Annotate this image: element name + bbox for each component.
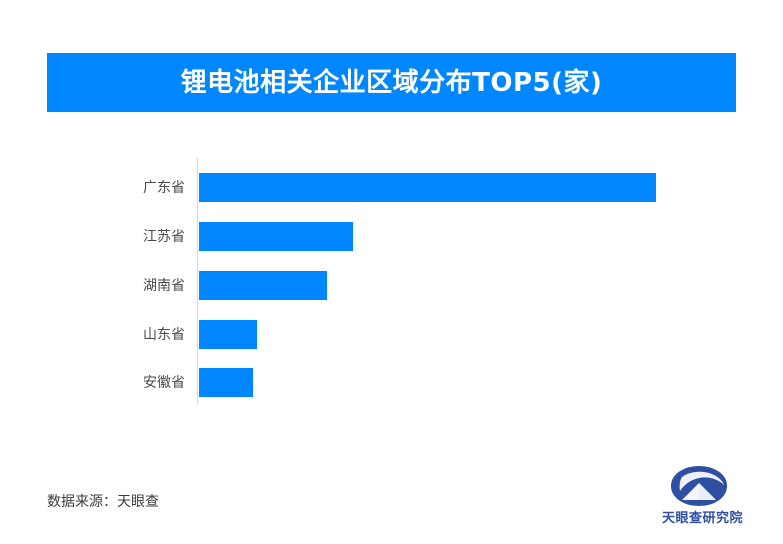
page-title: 锂电池相关企业区域分布TOP5(家) <box>181 70 603 96</box>
bar-row: 安徽省 <box>0 368 783 398</box>
bar-category-label: 山东省 <box>143 320 185 350</box>
bar-value-anhui <box>199 368 253 397</box>
tianyancha-eye-logo-icon <box>670 466 728 506</box>
bar-value-shandong <box>199 320 257 349</box>
bar-category-label: 安徽省 <box>143 368 185 398</box>
bar-category-label: 湖南省 <box>143 271 185 301</box>
bar-value-hunan <box>199 271 327 300</box>
bar-row: 江苏省 <box>0 222 783 252</box>
data-source-note: 数据来源：天眼查 <box>47 491 159 511</box>
bar-value-guangdong <box>199 173 656 202</box>
bar-row: 广东省 <box>0 173 783 203</box>
chart-canvas: 锂电池相关企业区域分布TOP5(家) 广东省 江苏省 湖南省 山东省 安徽省 数… <box>0 0 783 544</box>
bar-row: 山东省 <box>0 320 783 350</box>
bar-row: 湖南省 <box>0 271 783 301</box>
bar-value-jiangsu <box>199 222 353 251</box>
bar-category-label: 广东省 <box>143 173 185 203</box>
brand-wordmark: 天眼查研究院 <box>662 507 762 526</box>
brand-logo: 天眼查研究院 <box>662 466 762 528</box>
chart-title-banner: 锂电池相关企业区域分布TOP5(家) <box>47 53 736 112</box>
bar-category-label: 江苏省 <box>143 222 185 252</box>
bar-chart: 广东省 江苏省 湖南省 山东省 安徽省 <box>0 150 783 412</box>
